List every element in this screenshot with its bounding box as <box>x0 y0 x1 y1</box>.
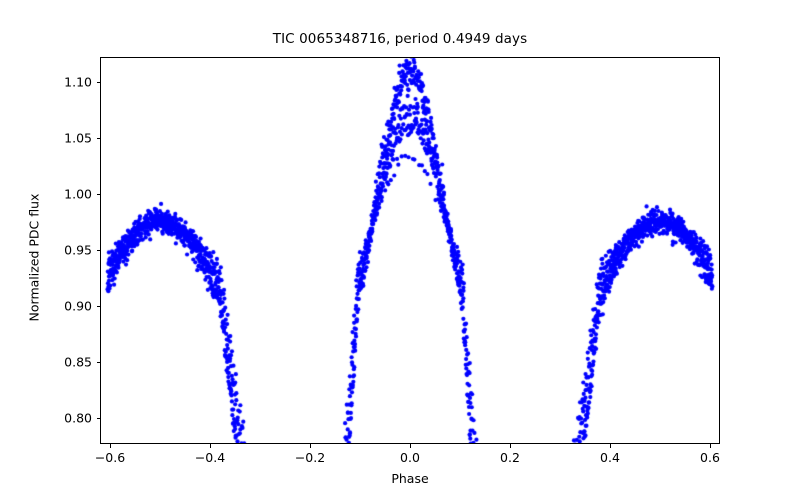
x-tick-mark <box>510 444 511 448</box>
x-tick-mark <box>610 444 611 448</box>
x-tick-mark <box>410 444 411 448</box>
x-tick-label: 0.2 <box>475 450 545 465</box>
x-axis-label: Phase <box>100 471 720 486</box>
x-tick-label: 0.4 <box>575 450 645 465</box>
y-tick-mark <box>97 138 101 139</box>
x-tick-label: −0.6 <box>75 450 145 465</box>
x-tick-label: 0.0 <box>375 450 445 465</box>
y-tick-mark <box>97 82 101 83</box>
chart-title: TIC 0065348716, period 0.4949 days <box>0 31 800 47</box>
plot-area <box>100 57 720 444</box>
y-tick-mark <box>97 306 101 307</box>
scatter-plot <box>101 58 719 443</box>
y-axis-label: Normalized PDC flux <box>27 148 42 368</box>
x-tick-mark <box>310 444 311 448</box>
y-tick-label: 1.10 <box>32 74 92 89</box>
x-tick-label: −0.2 <box>275 450 345 465</box>
x-tick-mark <box>210 444 211 448</box>
x-tick-label: −0.4 <box>175 450 245 465</box>
y-tick-mark <box>97 250 101 251</box>
y-tick-mark <box>97 194 101 195</box>
y-tick-label: 1.05 <box>32 130 92 145</box>
y-tick-label: 0.80 <box>32 411 92 426</box>
x-tick-label: 0.6 <box>675 450 745 465</box>
y-tick-mark <box>97 362 101 363</box>
y-tick-mark <box>97 418 101 419</box>
x-tick-mark <box>110 444 111 448</box>
figure-canvas: TIC 0065348716, period 0.4949 days 0.800… <box>0 0 800 500</box>
x-tick-mark <box>710 444 711 448</box>
